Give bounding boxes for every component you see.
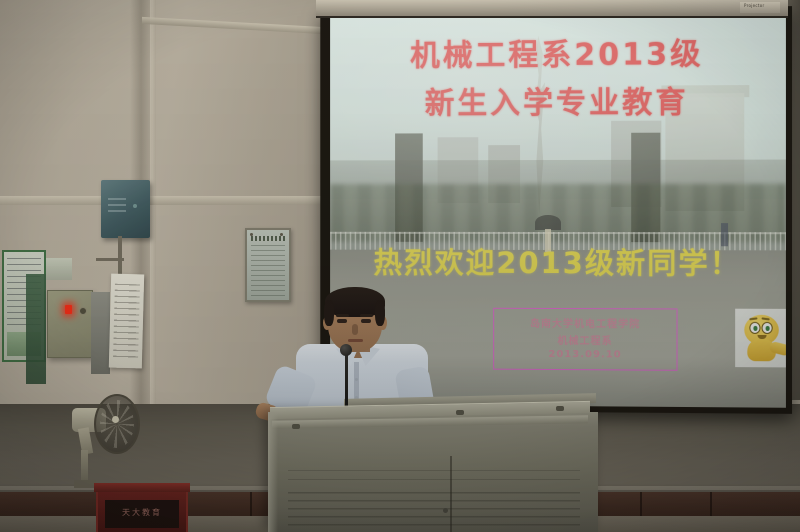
- mascot-eye: [762, 322, 773, 334]
- microphone-head-icon: [340, 344, 352, 356]
- paper-notice-lines: [113, 284, 140, 359]
- photo-scene: Projector 机械工程系2013级 新生入学专业教育: [0, 0, 800, 532]
- podium-left-edge: [268, 412, 278, 532]
- electrical-box-label-line: [108, 204, 126, 206]
- skirting-seam: [640, 492, 642, 518]
- slide-credit-line1: 岛南大学机电工程学院: [494, 315, 676, 331]
- red-framed-sign: 天大教育: [96, 487, 188, 532]
- slide-credit-line3: 2013.09.10: [494, 349, 676, 361]
- wall-plate: [46, 258, 72, 280]
- poster-text-lines: [251, 245, 285, 296]
- podium-hinge: [556, 406, 564, 411]
- skirting-seam: [710, 492, 712, 518]
- electrical-box-indicator: [133, 204, 137, 208]
- fan-hub: [112, 416, 119, 423]
- projection-screen-housing: [316, 0, 788, 18]
- podium-hinge: [292, 424, 300, 429]
- poster-header-bar: [251, 236, 285, 241]
- podium-vent-slots: [288, 470, 580, 486]
- wall-poster: [245, 228, 291, 302]
- presenter-eye: [337, 319, 347, 323]
- mascot-pupil: [765, 326, 770, 331]
- podium-vent-slots: [288, 492, 580, 526]
- projector-label-text: Projector: [744, 3, 764, 8]
- fan-base: [74, 480, 96, 488]
- presenter-eye: [361, 319, 371, 323]
- presenter-eyebrow: [336, 314, 349, 317]
- electrical-box-label-line: [108, 210, 126, 212]
- presenter-hair-side: [375, 300, 385, 326]
- mascot-eye: [749, 322, 760, 334]
- power-indicator-light: [65, 305, 72, 314]
- mascot-pupil: [753, 326, 758, 331]
- red-sign-text: 天大教育: [105, 507, 179, 518]
- fan-blade-cage: [94, 394, 140, 454]
- breaker-panel: [91, 292, 110, 374]
- presenter-mouth: [348, 339, 363, 342]
- skirting-seam: [250, 492, 252, 518]
- notice-board-side-panel: [26, 274, 46, 384]
- presenter-shirt-button: [355, 378, 358, 381]
- paper-notice: [109, 274, 144, 369]
- electrical-conduit: [96, 258, 124, 261]
- presenter-eyebrow: [360, 314, 373, 317]
- slide-title-line1: 机械工程系2013级: [330, 28, 786, 75]
- slide-credit-box: 岛南大学机电工程学院 机械工程系 2013.09.10: [493, 308, 677, 371]
- slide-welcome-line: 热烈欢迎2013级新同学！: [330, 240, 786, 283]
- electrical-box-label-line: [108, 198, 126, 200]
- slide-mascot-icon: [735, 309, 786, 368]
- presenter-nose: [352, 324, 358, 335]
- microphone-stem: [345, 352, 348, 410]
- slide-credit-line2: 机械工程系: [494, 332, 676, 348]
- podium-lock[interactable]: [443, 508, 448, 513]
- presenter-hair-side: [324, 300, 334, 326]
- electrical-box-icon: [101, 180, 150, 238]
- control-panel[interactable]: [47, 290, 93, 358]
- wall-molding-mid: [0, 196, 330, 205]
- wall-fan[interactable]: [62, 388, 158, 488]
- slide-title-line2: 新生入学专业教育: [330, 77, 786, 123]
- red-sign-inner: 天大教育: [105, 500, 179, 528]
- podium-hinge: [456, 410, 464, 415]
- red-sign-top-trim: [94, 483, 190, 492]
- panel-knob[interactable]: [79, 307, 87, 315]
